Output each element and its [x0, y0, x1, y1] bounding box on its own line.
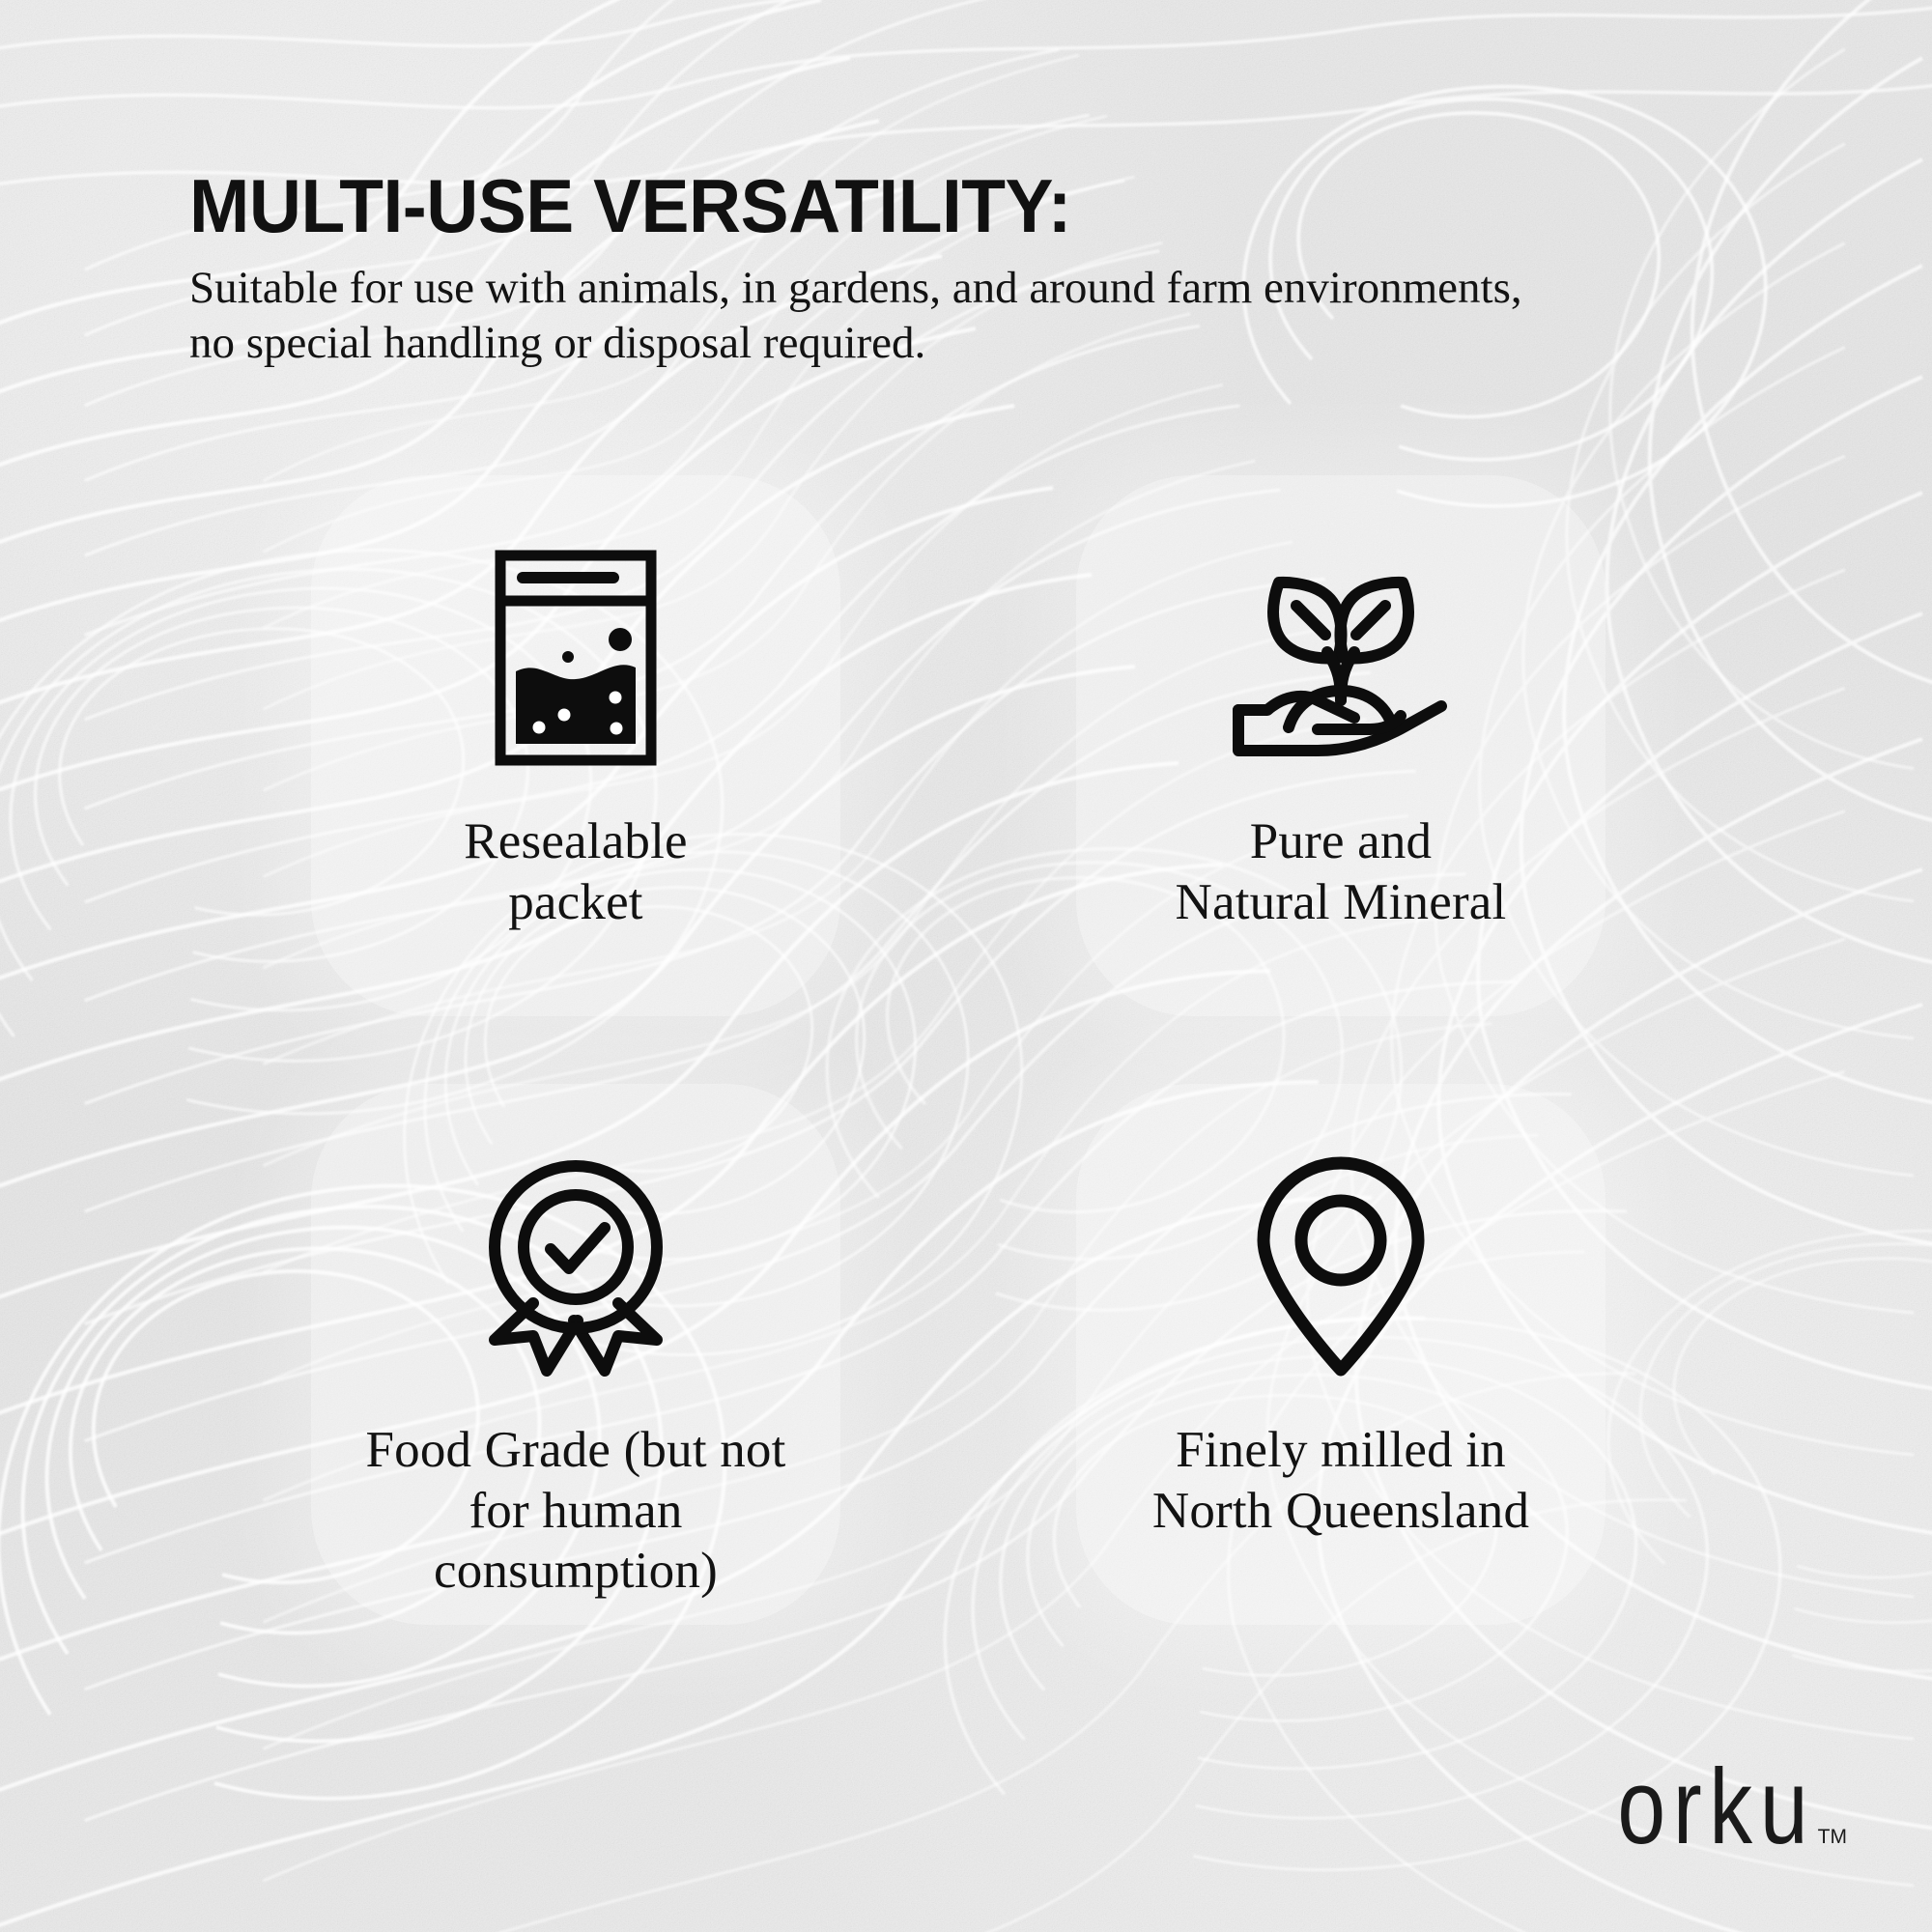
trademark-symbol: TM: [1818, 1826, 1847, 1849]
feature-card-pure-natural-mineral: Pure and Natural Mineral: [1003, 537, 1679, 932]
feature-card-resealable-packet: Resealable packet: [238, 537, 914, 932]
feature-card-finely-milled: Finely milled in North Queensland: [1003, 1146, 1679, 1541]
poster-canvas: MULTI-USE VERSATILITY: Suitable for use …: [0, 0, 1932, 1932]
logo-wordmark: orku: [1618, 1761, 1816, 1857]
award-badge-check-icon: [473, 1146, 678, 1387]
feature-card-food-grade: Food Grade (but not for human consumptio…: [238, 1146, 914, 1602]
seedling-in-hand-icon: [1225, 537, 1457, 779]
resealable-packet-icon: [479, 537, 672, 779]
page-title: MULTI-USE VERSATILITY:: [189, 162, 1071, 250]
brand-logo: orku TM: [1585, 1766, 1847, 1857]
feature-label: Pure and Natural Mineral: [1176, 811, 1507, 932]
feature-label: Finely milled in North Queensland: [1152, 1420, 1529, 1541]
map-pin-icon: [1251, 1146, 1431, 1387]
page-subtitle: Suitable for use with animals, in garden…: [189, 261, 1745, 372]
feature-label: Food Grade (but not for human consumptio…: [365, 1420, 785, 1602]
feature-label: Resealable packet: [464, 811, 688, 932]
